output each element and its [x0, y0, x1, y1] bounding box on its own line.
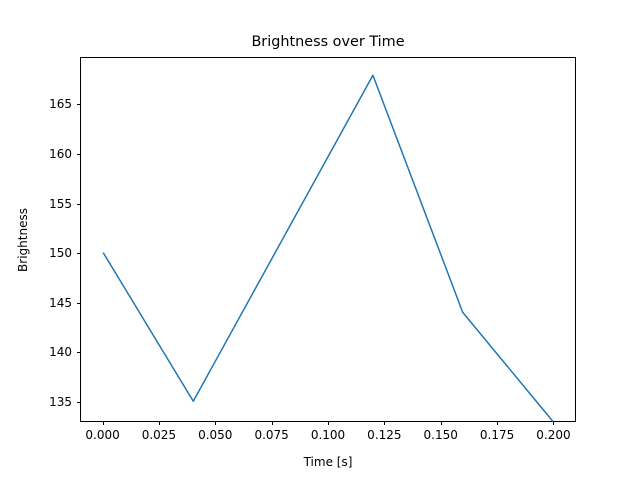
- x-tick-label: 0.025: [142, 428, 176, 442]
- x-tick-label: 0.100: [311, 428, 345, 442]
- x-tick-label: 0.150: [424, 428, 458, 442]
- x-tick-mark: [553, 421, 554, 425]
- x-tick-mark: [441, 421, 442, 425]
- x-tick-label: 0.075: [254, 428, 288, 442]
- y-tick-label: 145: [40, 296, 72, 310]
- x-tick-mark: [497, 421, 498, 425]
- y-tick-mark: [77, 352, 81, 353]
- x-tick-mark: [215, 421, 216, 425]
- plot-axes: [80, 57, 576, 422]
- plot-area-svg: [81, 58, 575, 421]
- brightness-line-series: [103, 75, 552, 421]
- y-axis-label: Brightness: [16, 208, 30, 272]
- x-tick-label: 0.175: [480, 428, 514, 442]
- y-tick-label: 140: [40, 345, 72, 359]
- y-tick-mark: [77, 402, 81, 403]
- x-tick-mark: [159, 421, 160, 425]
- x-tick-mark: [272, 421, 273, 425]
- y-tick-label: 160: [40, 147, 72, 161]
- y-tick-mark: [77, 154, 81, 155]
- y-tick-label: 135: [40, 395, 72, 409]
- y-tick-mark: [77, 253, 81, 254]
- y-tick-label: 155: [40, 197, 72, 211]
- figure-canvas: Brightness over Time Brightness Time [s]…: [0, 0, 640, 480]
- x-tick-mark: [328, 421, 329, 425]
- y-axis-label-container: Brightness: [14, 57, 32, 422]
- y-tick-label: 150: [40, 246, 72, 260]
- y-tick-mark: [77, 303, 81, 304]
- x-tick-label: 0.200: [536, 428, 570, 442]
- x-tick-label: 0.050: [198, 428, 232, 442]
- y-tick-mark: [77, 204, 81, 205]
- x-tick-label: 0.000: [85, 428, 119, 442]
- x-tick-mark: [384, 421, 385, 425]
- x-tick-mark: [103, 421, 104, 425]
- x-axis-label: Time [s]: [80, 455, 576, 469]
- x-tick-label: 0.125: [367, 428, 401, 442]
- y-tick-label: 165: [40, 97, 72, 111]
- y-tick-mark: [77, 104, 81, 105]
- chart-title: Brightness over Time: [80, 33, 576, 51]
